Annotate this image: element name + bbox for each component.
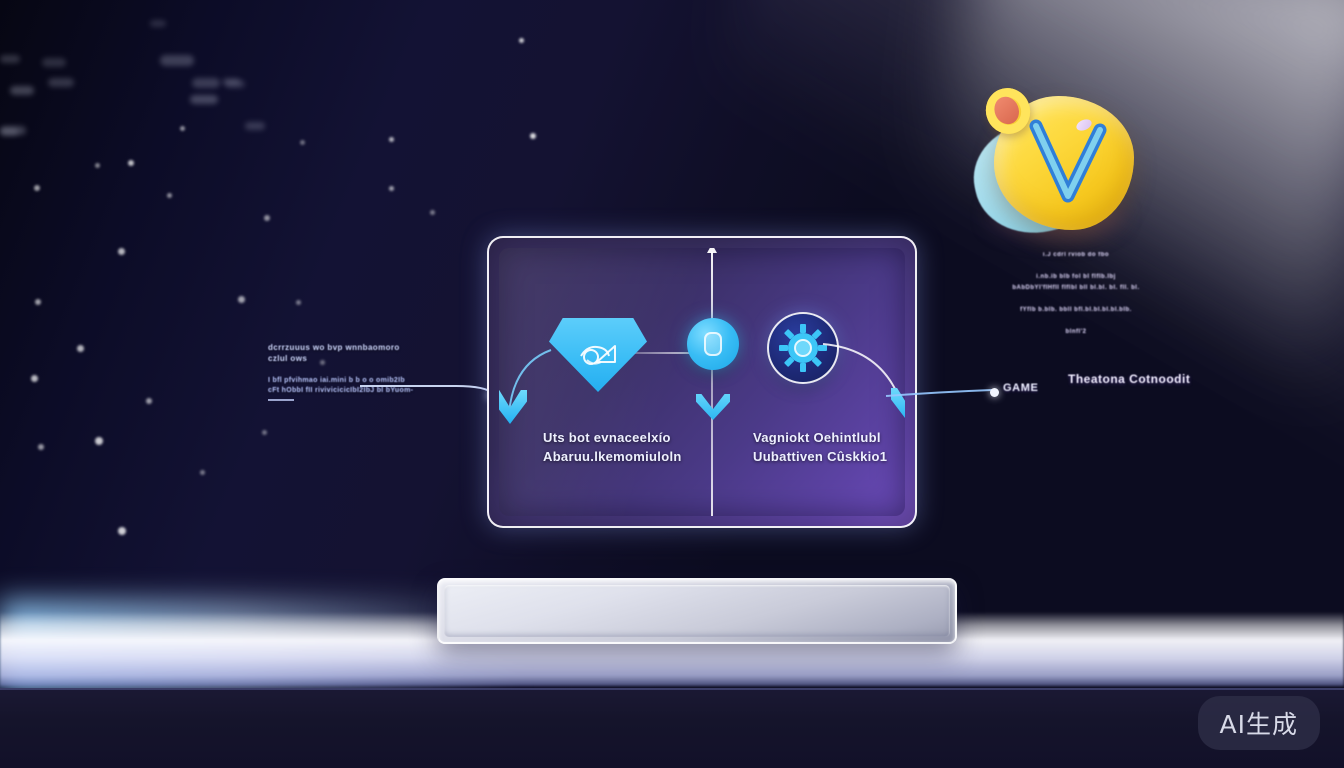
- annotation-underline: [268, 399, 294, 401]
- callout-threat-label: Theatona Cotnoodit: [1068, 372, 1190, 386]
- vertical-axis-arrow: [711, 252, 713, 516]
- left-annotation-primary: dcrrzuuus wo bvp wnnbaomoro czlul ows: [268, 342, 488, 364]
- screen-content: Uts bot evnaceelxío Abaruu.lkemomiuloln …: [499, 248, 905, 516]
- fingerprint-glyph: [704, 332, 722, 356]
- left-edge-arrow: [499, 390, 527, 424]
- verified-badge: [968, 78, 1146, 250]
- bottom-dark-bar: [0, 688, 1344, 768]
- device-screen[interactable]: Uts bot evnaceelxío Abaruu.lkemomiuloln …: [487, 236, 917, 528]
- laptop-base[interactable]: [437, 578, 957, 644]
- screen-label-left: Uts bot evnaceelxío Abaruu.lkemomiuloln: [543, 428, 713, 466]
- ai-generated-watermark: AI生成: [1198, 696, 1320, 750]
- screen-label-right: Vagniokt Oehintlubl Uubattiven Cûskkio1: [753, 428, 905, 466]
- checkmark-v-icon: [1020, 116, 1112, 208]
- illustration-scene: i.J cdrl rviob do fbo i.nb.ib bIb fol bI…: [0, 0, 1344, 768]
- right-leader-endpoint: [990, 388, 999, 397]
- callout-game-label: GAME: [1003, 382, 1038, 394]
- laptop-base-surface: [444, 585, 950, 637]
- right-leader-curve: [880, 378, 1000, 404]
- right-micro-annotation: i.J cdrl rviob do fbo i.nb.ib bIb fol bI…: [996, 250, 1156, 338]
- node-center-fingerprint[interactable]: [687, 318, 739, 370]
- shield-inner-glyph: [575, 340, 621, 374]
